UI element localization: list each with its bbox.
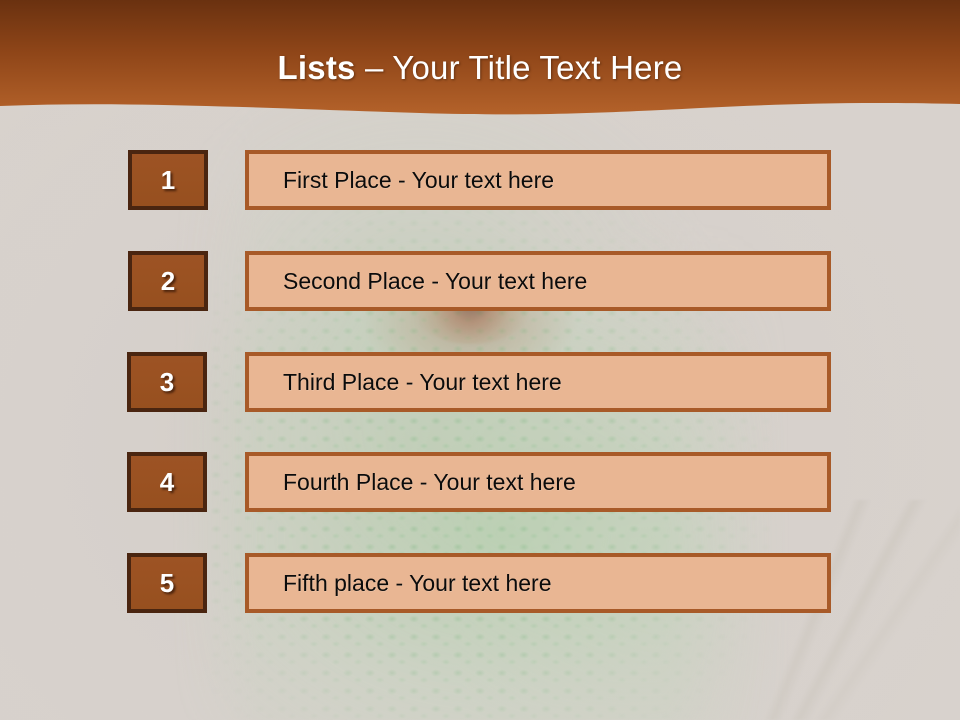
- list-item[interactable]: 1 First Place - Your text here: [0, 150, 960, 216]
- list-item-text-box[interactable]: First Place - Your text here: [245, 150, 831, 210]
- list-item-text-box[interactable]: Second Place - Your text here: [245, 251, 831, 311]
- list-item-number: 4: [160, 469, 174, 495]
- list-item-label: Third Place - Your text here: [249, 371, 562, 394]
- list-item-number-box[interactable]: 1: [128, 150, 208, 210]
- list-item[interactable]: 5 Fifth place - Your text here: [0, 553, 960, 619]
- list-item-number: 5: [160, 570, 174, 596]
- list-item[interactable]: 2 Second Place - Your text here: [0, 251, 960, 317]
- slide: Lists – Your Title Text Here 1 First Pla…: [0, 0, 960, 720]
- list-item-text-box[interactable]: Fifth place - Your text here: [245, 553, 831, 613]
- list-item-number-box[interactable]: 5: [127, 553, 207, 613]
- list-item[interactable]: 3 Third Place - Your text here: [0, 352, 960, 418]
- list-item-number: 3: [160, 369, 174, 395]
- list-item-number-box[interactable]: 3: [127, 352, 207, 412]
- list-item-label: Fourth Place - Your text here: [249, 471, 576, 494]
- list-item[interactable]: 4 Fourth Place - Your text here: [0, 452, 960, 518]
- list-item-label: Second Place - Your text here: [249, 270, 587, 293]
- list-item-label: First Place - Your text here: [249, 169, 554, 192]
- list-item-label: Fifth place - Your text here: [249, 572, 552, 595]
- list-rows: 1 First Place - Your text here 2 Second …: [0, 0, 960, 720]
- list-item-text-box[interactable]: Fourth Place - Your text here: [245, 452, 831, 512]
- list-item-number-box[interactable]: 2: [128, 251, 208, 311]
- list-item-number: 2: [161, 268, 175, 294]
- list-item-number-box[interactable]: 4: [127, 452, 207, 512]
- list-item-number: 1: [161, 167, 175, 193]
- list-item-text-box[interactable]: Third Place - Your text here: [245, 352, 831, 412]
